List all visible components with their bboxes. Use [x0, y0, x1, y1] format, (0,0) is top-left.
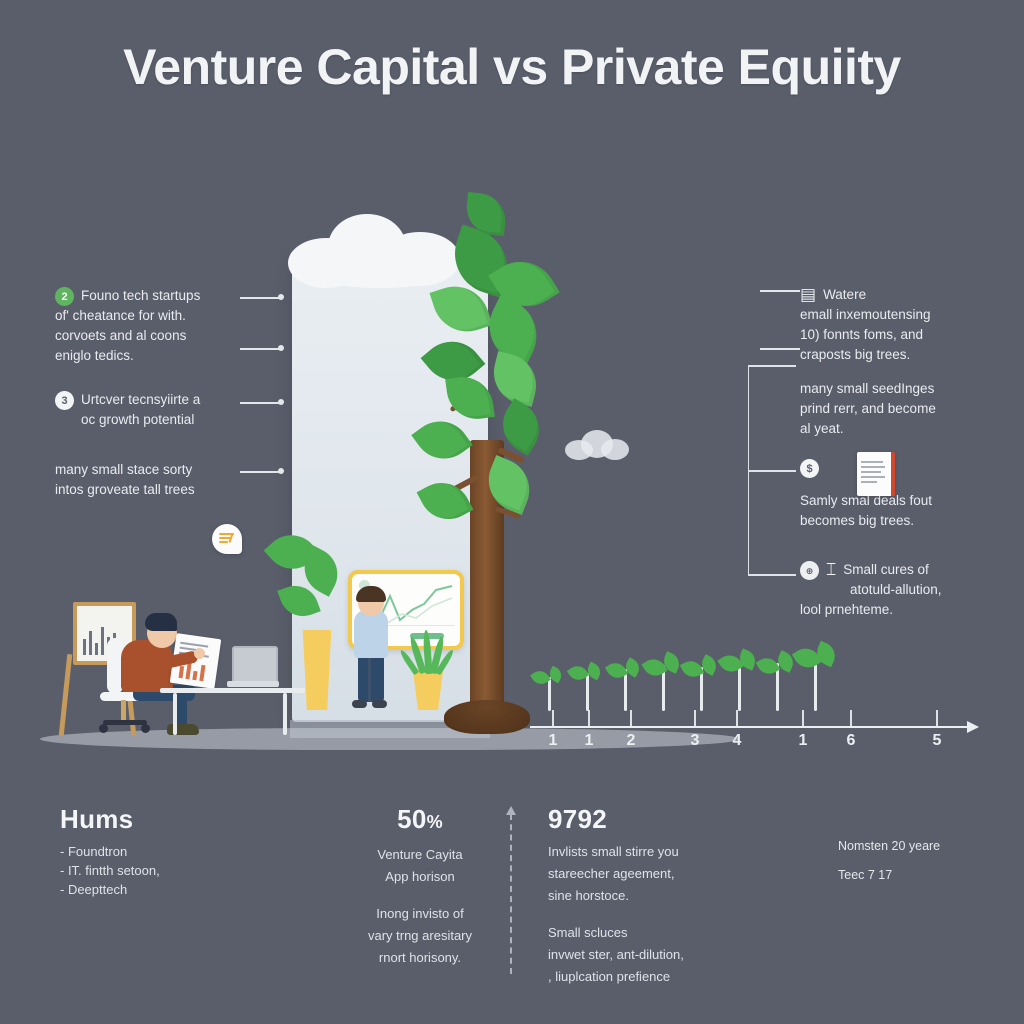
- seedling: [535, 651, 565, 711]
- presenter-torso: [354, 610, 388, 658]
- annotation-line: atotuld-allution,: [800, 580, 1000, 600]
- stat-middle-caption: Venture Cayita: [345, 845, 495, 864]
- easel-leg: [59, 654, 73, 736]
- analyst-hair: [145, 613, 177, 631]
- seedling-row: [535, 635, 835, 711]
- annotation-line: becomes big trees.: [800, 511, 1000, 531]
- annotation-line: of' cheatance for with.: [55, 306, 265, 326]
- timeline-tick: [850, 710, 852, 726]
- bracket-arm: [748, 470, 796, 472]
- left-annotation-3: many small stace sorty intos groveate ta…: [55, 460, 270, 500]
- leader-line: [760, 348, 800, 350]
- left-annotation-2: 3 Urtcver tecnsyiirte a oc growth potent…: [55, 390, 265, 430]
- stat-middle-body: rnort horisony.: [345, 948, 495, 967]
- dollar-badge-icon: $: [800, 459, 819, 478]
- stat-middle-caption: App horison: [345, 867, 495, 886]
- stats-row: Hums - Foundtron - IT. fintth setoon, - …: [0, 800, 1024, 1010]
- timeline-tick: [802, 710, 804, 726]
- right-annotation-3: ⊕ ⌶ Small cures of atotuld-allution, loo…: [800, 560, 1000, 620]
- annotation-line: Urtcver tecnsyiirte a: [81, 390, 200, 410]
- leader-line: [760, 290, 800, 292]
- leader-dot: [278, 345, 284, 351]
- bar-chart-icon: ▤: [800, 285, 816, 305]
- timeline-tick-label: 1: [585, 732, 594, 750]
- timeline-tick: [588, 710, 590, 726]
- analyst-shoe: [167, 724, 199, 735]
- presenter-shoe: [352, 700, 367, 708]
- desk-leg: [283, 693, 287, 735]
- seedling: [611, 651, 641, 711]
- seedling: [573, 651, 603, 711]
- chair-wheel: [99, 724, 108, 733]
- stat-right-body: invwet ster, ant-dilution,: [548, 945, 808, 964]
- stat-middle-value: 50%: [345, 810, 495, 832]
- annotation-line: many small stace sorty: [55, 460, 270, 480]
- stat-right-body: , liuplcation prefience: [548, 967, 808, 986]
- cloud-small-icon: [565, 430, 631, 460]
- leader-dot: [278, 468, 284, 474]
- analyst-hand: [194, 648, 205, 659]
- globe-badge-icon: ⊕: [800, 561, 819, 580]
- stat-left-list: - Foundtron - IT. fintth setoon, - Deept…: [60, 842, 310, 899]
- annotation-heading: Watere: [823, 285, 866, 305]
- list-item: - IT. fintth setoon,: [60, 861, 310, 880]
- leader-dot: [278, 294, 284, 300]
- tower-icon: ⌶: [826, 560, 836, 580]
- timeline-axis: [530, 726, 970, 728]
- office-chair-base: [103, 720, 147, 725]
- stat-right-body: Small scluces: [548, 923, 808, 942]
- analyst-desk-scene: [55, 580, 305, 740]
- timeline-tick: [630, 710, 632, 726]
- annotation-line: many small seedInges: [800, 379, 1000, 399]
- annotation-line: al yeat.: [800, 419, 1000, 439]
- leader-line: [240, 402, 282, 404]
- document-icon: [857, 452, 895, 496]
- annotation-line: Founo tech startups: [81, 286, 200, 306]
- numbered-badge-icon: 3: [55, 391, 74, 410]
- stat-middle: 50% Venture Cayita App horison Inong inv…: [345, 810, 495, 970]
- stat-middle-body: vary trng aresitary: [345, 926, 495, 945]
- stat-right-caption: stareecher ageement,: [548, 864, 808, 883]
- annotation-line: Samly smal deals fout: [800, 491, 1000, 511]
- annotation-line: prind rerr, and become: [800, 399, 1000, 419]
- annotation-line: Small cures of: [843, 560, 929, 580]
- seedling: [801, 651, 831, 711]
- annotation-line: corvoets and al coons: [55, 326, 265, 346]
- left-annotation-1: 2 Founo tech startups of' cheatance for …: [55, 286, 265, 366]
- presenter-shoe: [372, 700, 387, 708]
- leader-dot: [278, 399, 284, 405]
- annotation-line: lool prnehteme.: [800, 600, 1000, 620]
- leader-line: [240, 348, 282, 350]
- timeline-tick: [936, 710, 938, 726]
- numbered-badge-icon: 2: [55, 287, 74, 306]
- stat-right: 9792 Invlists small stirre you stareeche…: [548, 810, 808, 989]
- infographic-canvas: Venture Capital vs Private Equiity: [0, 0, 1024, 1024]
- annotation-line: emall inxemoutensing: [800, 305, 1000, 325]
- annotation-line: 10) fonnts foms, and: [800, 325, 1000, 345]
- timeline-tick-label: 6: [847, 732, 856, 750]
- speech-bubble-icon: [212, 524, 242, 554]
- annotation-line: craposts big trees.: [800, 345, 1000, 365]
- right-annotation-1: ▤ Watere emall inxemoutensing 10) fonnts…: [800, 285, 1000, 439]
- timeline-tick-label: 5: [933, 732, 942, 750]
- bracket-arm: [748, 365, 796, 367]
- presenter-legs: [358, 654, 384, 702]
- timeline-tick-label: 2: [627, 732, 636, 750]
- up-arrow-icon: [506, 806, 516, 815]
- stat-right-caption: Invlists small stirre you: [548, 842, 808, 861]
- leader-line: [240, 471, 282, 473]
- timeline-tick-label: 3: [691, 732, 700, 750]
- leader-line: [240, 297, 282, 299]
- stat-right-caption: sine horstoce.: [548, 886, 808, 905]
- seedling: [649, 651, 679, 711]
- chair-wheel: [141, 724, 150, 733]
- timeline-tick-label: 1: [799, 732, 808, 750]
- stat-right-value: 9792: [548, 810, 808, 829]
- annotation-line: intos groveate tall trees: [55, 480, 270, 500]
- desk-leg: [173, 693, 177, 735]
- annotation-line: oc growth potential: [55, 410, 265, 430]
- stat-left-heading: Hums: [60, 810, 310, 829]
- timeline-tick-label: 4: [733, 732, 742, 750]
- laptop-icon: [227, 646, 279, 688]
- bracket-arm: [748, 574, 796, 576]
- page-title: Venture Capital vs Private Equiity: [0, 38, 1024, 96]
- stat-left: Hums - Foundtron - IT. fintth setoon, - …: [60, 810, 310, 899]
- seedling: [687, 651, 717, 711]
- seedling: [763, 651, 793, 711]
- list-item: - Foundtron: [60, 842, 310, 861]
- timeline-tick-label: 1: [549, 732, 558, 750]
- list-item: - Deepttech: [60, 880, 310, 899]
- seedling: [725, 651, 755, 711]
- cloud-large-icon: [288, 212, 468, 290]
- annotation-line: eniglo tedics.: [55, 346, 265, 366]
- timeline-tick: [694, 710, 696, 726]
- timeline-tick: [552, 710, 554, 726]
- timeline-tick: [736, 710, 738, 726]
- office-chair-stem: [121, 700, 126, 722]
- presenter-hair: [356, 586, 386, 602]
- stat-divider: [510, 814, 512, 974]
- stat-middle-body: Inong invisto of: [345, 904, 495, 923]
- right-annotation-2: $ Samly smal deals fout becomes big tree…: [800, 455, 1000, 531]
